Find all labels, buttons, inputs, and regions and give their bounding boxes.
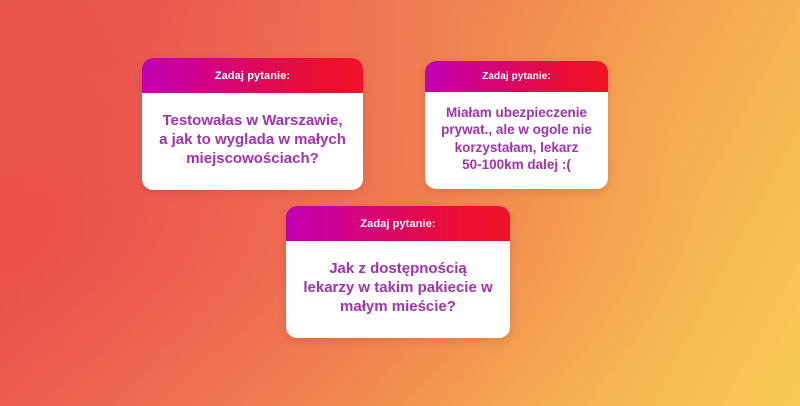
question-card-body: Miałam ubezpieczenie prywat., ale w ogol… [425,92,608,189]
question-card-header: Zadaj pytanie: [142,58,363,93]
question-card-header: Zadaj pytanie: [425,61,608,92]
question-card[interactable]: Zadaj pytanie: Miałam ubezpieczenie pryw… [425,61,608,189]
question-card-body: Testowałas w Warszawie, a jak to wyglada… [142,93,363,190]
question-card-body: Jak z dostępnością lekarzy w takim pakie… [286,241,510,338]
question-card[interactable]: Zadaj pytanie: Jak z dostępnością lekarz… [286,206,510,338]
question-card[interactable]: Zadaj pytanie: Testowałas w Warszawie, a… [142,58,363,190]
question-card-header: Zadaj pytanie: [286,206,510,241]
question-cards-canvas: Zadaj pytanie: Testowałas w Warszawie, a… [0,0,800,406]
